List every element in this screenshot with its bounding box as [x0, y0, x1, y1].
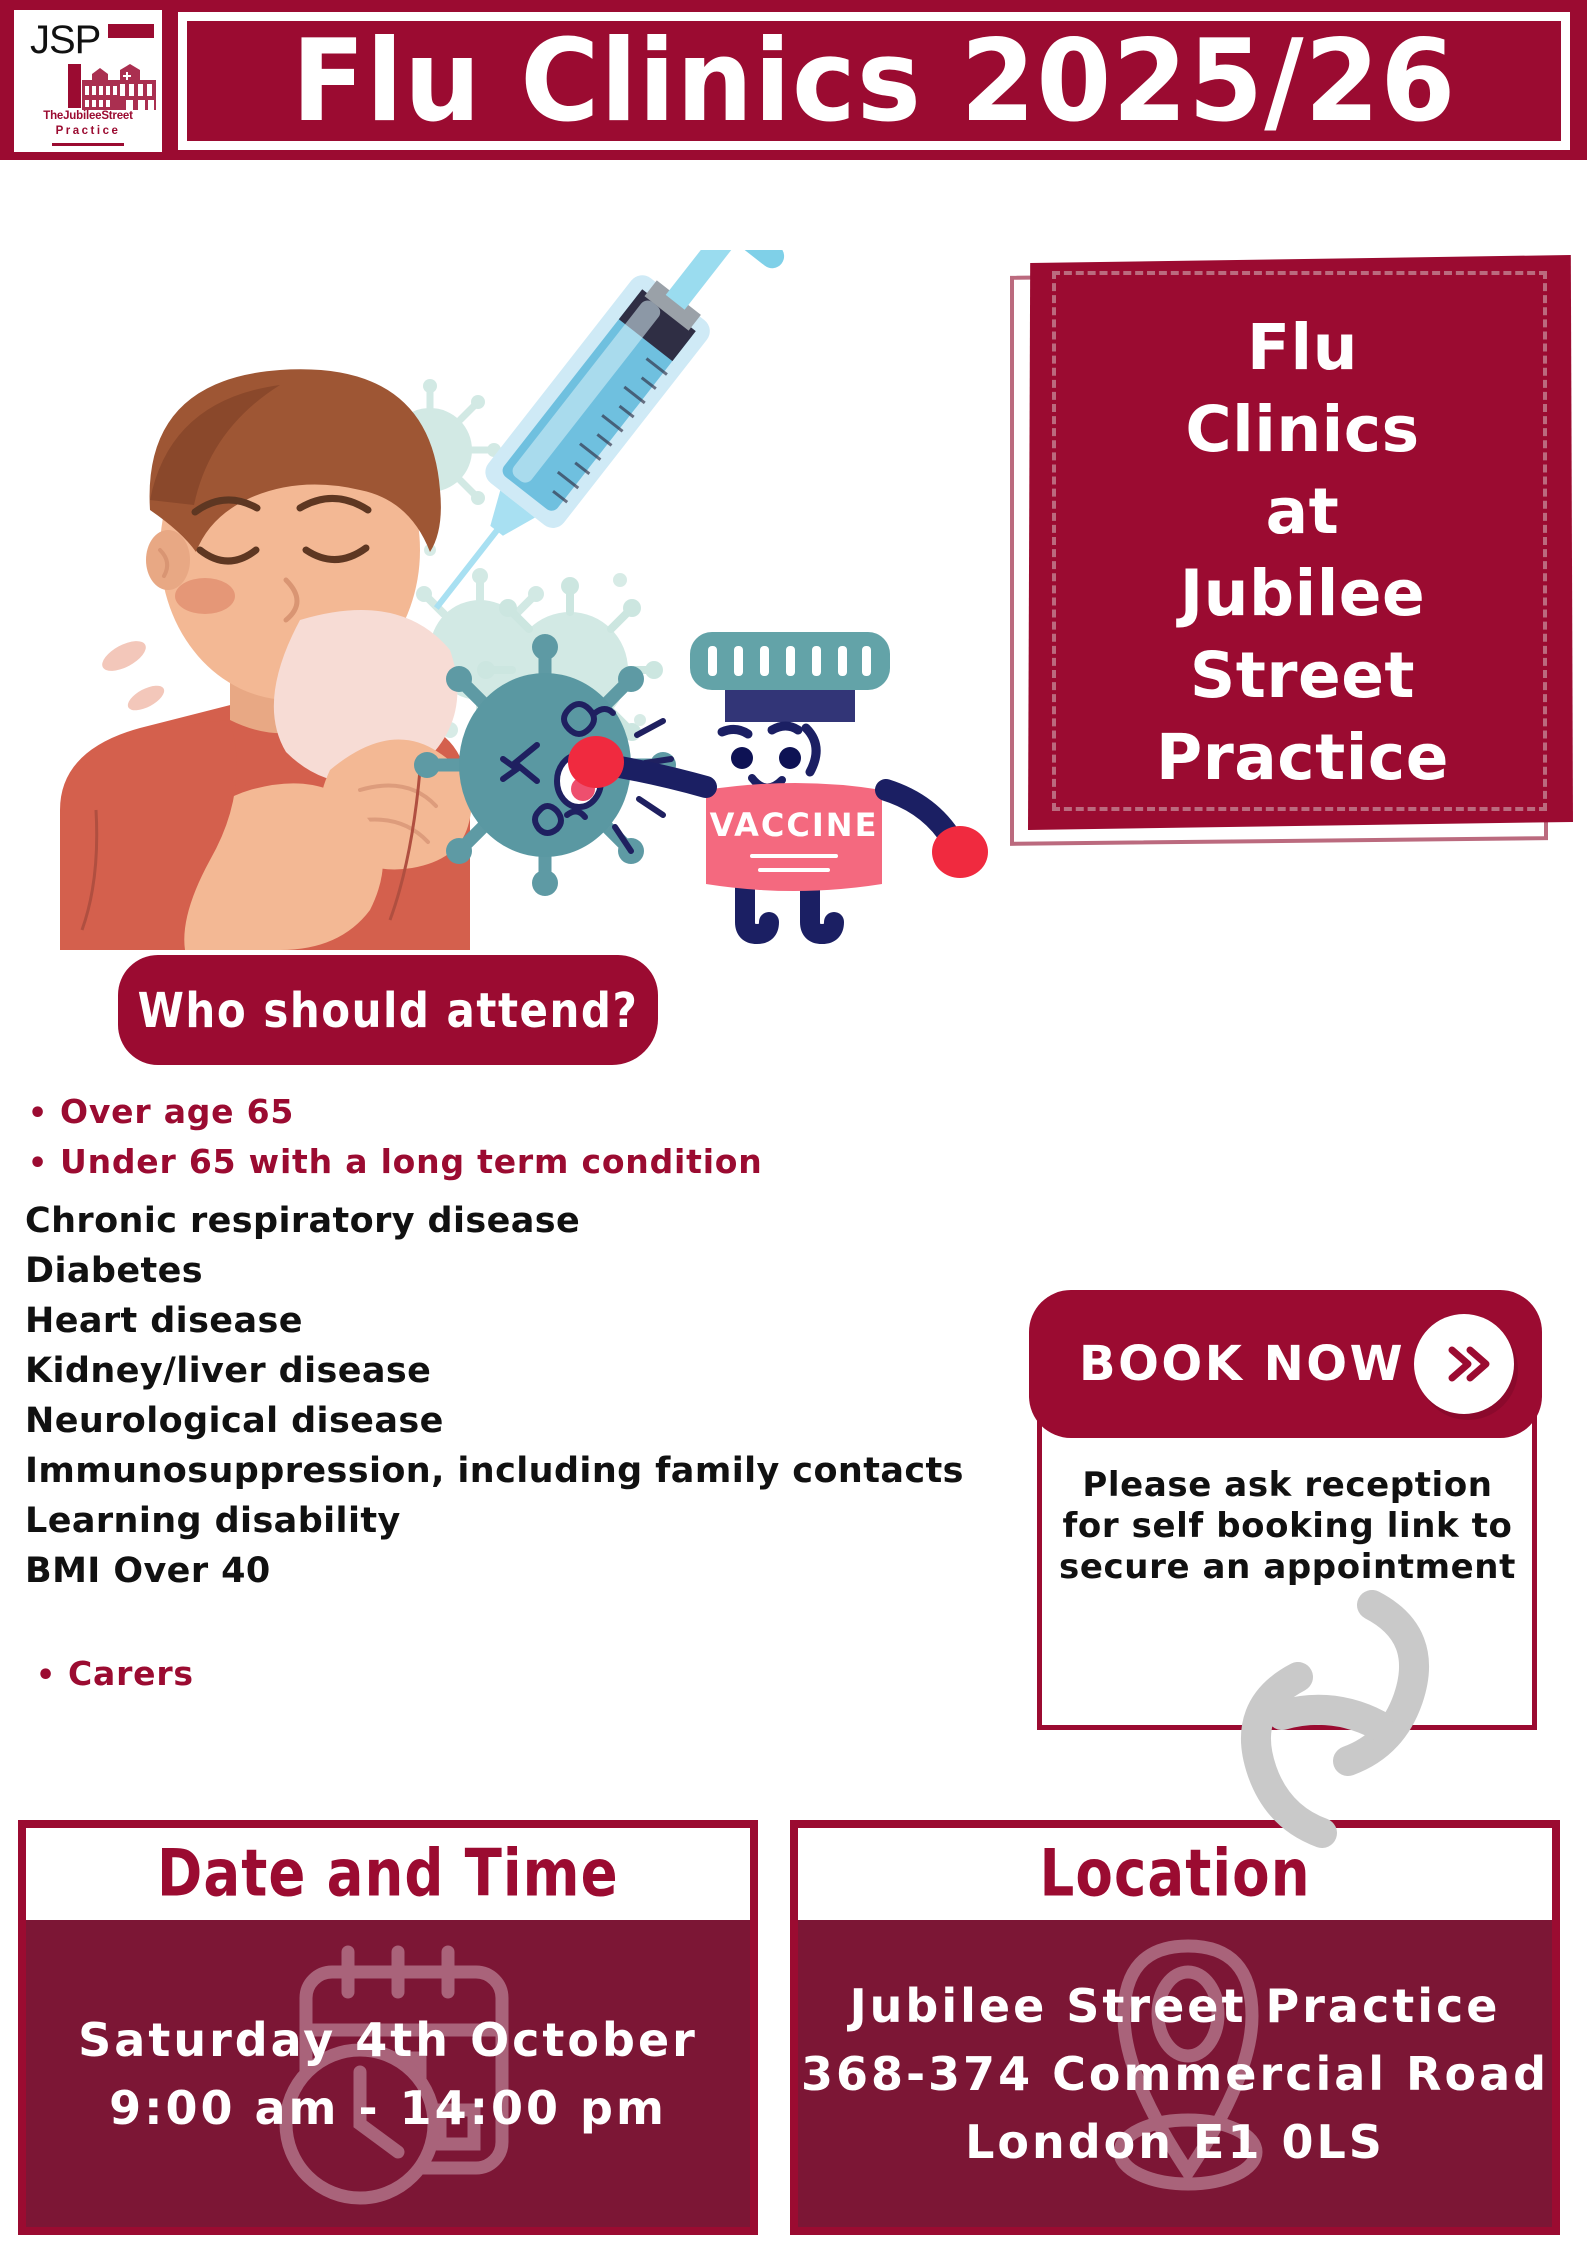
list-item-label: Over age 65 [60, 1088, 294, 1136]
location-line: London E1 0LS [798, 2108, 1552, 2176]
location-line: Jubilee Street Practice [798, 1972, 1552, 2040]
condition-item: Learning disability [25, 1496, 965, 1546]
logo-initials: JSP [30, 20, 100, 60]
date-and-time-lines: Saturday 4th October 9:00 am - 14:00 pm [26, 2006, 750, 2142]
page-title: Flu Clinics 2025/26 [292, 22, 1457, 140]
panel-line: at [1266, 471, 1340, 553]
who-should-attend-banner: Who should attend? [118, 955, 658, 1065]
panel-text: Flu Clinics at Jubilee Street Practice [1040, 273, 1565, 833]
condition-item: BMI Over 40 [25, 1546, 965, 1596]
list-item-label: Under 65 with a long term condition [60, 1138, 763, 1186]
practice-logo: JSP [14, 10, 162, 152]
book-now-instructions: Please ask reception for self booking li… [1055, 1465, 1520, 1588]
panel-line: Practice [1156, 717, 1449, 799]
condition-item: Diabetes [25, 1246, 965, 1296]
conditions-list: Chronic respiratory disease Diabetes Hea… [25, 1196, 965, 1596]
flu-clinic-poster: JSP [0, 0, 1587, 2245]
logo-bar-horizontal [108, 24, 154, 38]
book-now-card[interactable]: Please ask reception for self booking li… [1015, 1290, 1555, 1730]
logo-underline [52, 143, 124, 146]
double-chevron-right-icon[interactable] [1414, 1314, 1514, 1414]
list-item-label: Carers [68, 1650, 194, 1698]
list-item: • Over age 65 [28, 1088, 958, 1138]
eligibility-bullets: • Over age 65 • Under 65 with a long ter… [28, 1088, 958, 1188]
chain-link-icon [1202, 1565, 1462, 1865]
boy-figure [60, 369, 471, 950]
location-line: 368-374 Commercial Road [798, 2040, 1552, 2108]
date-and-time-card: Date and Time [18, 1820, 758, 2235]
clinic-highlight-panel: Flu Clinics at Jubilee Street Practice [1010, 255, 1580, 845]
carers-bullet: • Carers [28, 1650, 528, 1700]
location-lines: Jubilee Street Practice 368-374 Commerci… [798, 1972, 1552, 2176]
condition-item: Heart disease [25, 1296, 965, 1346]
bullet-icon: • [36, 1652, 56, 1700]
panel-line: Clinics [1185, 389, 1419, 471]
time-line: 9:00 am - 14:00 pm [26, 2074, 750, 2142]
logo-bar-vertical [68, 64, 81, 108]
logo-name-line2: Practice [14, 125, 162, 137]
date-and-time-content: Saturday 4th October 9:00 am - 14:00 pm [26, 1920, 750, 2227]
location-content: Jubilee Street Practice 368-374 Commerci… [798, 1920, 1552, 2227]
condition-item: Immunosuppression, including family cont… [25, 1446, 965, 1496]
list-item: • Under 65 with a long term condition [28, 1138, 958, 1188]
poster-title-panel: Flu Clinics 2025/26 [187, 21, 1561, 141]
bullet-icon: • [28, 1090, 48, 1138]
logo-name-line1: TheJubileeStreet [14, 110, 162, 122]
flu-illustration: VACCINE [0, 250, 1000, 950]
building-icon [82, 60, 156, 110]
date-line: Saturday 4th October [26, 2006, 750, 2074]
logo-mark: JSP [24, 14, 152, 74]
poster-title-frame: Flu Clinics 2025/26 [178, 12, 1570, 150]
condition-item: Kidney/liver disease [25, 1346, 965, 1396]
location-card: Location Jubilee Street Practice 368-374… [790, 1820, 1560, 2235]
bullet-icon: • [28, 1140, 48, 1188]
panel-line: Flu [1247, 307, 1358, 389]
who-should-attend-title: Who should attend? [138, 982, 639, 1038]
date-and-time-header: Date and Time [26, 1828, 750, 1920]
list-item: • Carers [28, 1650, 528, 1700]
condition-item: Neurological disease [25, 1396, 965, 1446]
panel-line: Jubilee [1180, 553, 1426, 635]
date-and-time-title: Date and Time [157, 1837, 619, 1912]
condition-item: Chronic respiratory disease [25, 1196, 965, 1246]
vaccine-label: VACCINE [710, 806, 879, 844]
panel-line: Street [1190, 635, 1415, 717]
poster-header: JSP [0, 0, 1587, 160]
book-now-button[interactable]: BOOK NOW [1029, 1290, 1542, 1438]
book-now-label: BOOK NOW [1079, 1336, 1405, 1392]
